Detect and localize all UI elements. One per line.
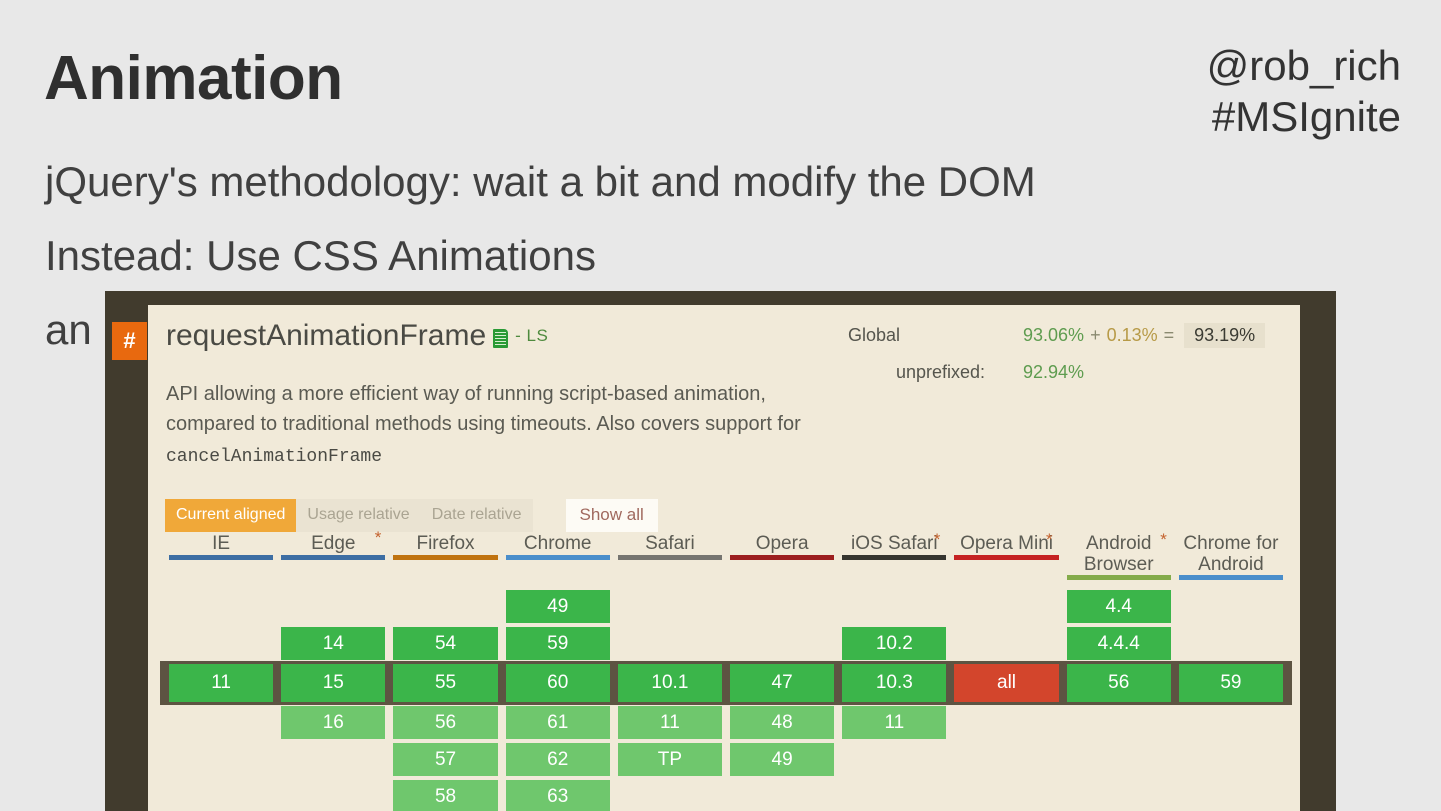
version-cell-older[interactable]: 54 <box>393 627 497 660</box>
browser-column-header-0[interactable]: IE <box>165 534 277 588</box>
spec-status-label: - LS <box>515 326 548 346</box>
version-cell-current[interactable]: 11 <box>169 664 273 702</box>
browser-name: Edge <box>277 534 389 555</box>
version-cell-empty <box>281 590 385 623</box>
feature-description: API allowing a more efficient way of run… <box>166 379 826 471</box>
version-cell-empty <box>954 780 1058 811</box>
spec-document-icon <box>493 329 508 348</box>
version-cell-empty <box>730 590 834 623</box>
version-cell-empty <box>169 590 273 623</box>
version-cell-empty <box>1179 743 1283 776</box>
version-cell-older[interactable]: 4.4 <box>1067 590 1171 623</box>
browser-column-header-6[interactable]: iOS Safari* <box>838 534 950 588</box>
version-cell-newer[interactable]: 57 <box>393 743 497 776</box>
filter-button-2[interactable]: Date relative <box>421 499 533 532</box>
version-cell-newer[interactable]: 62 <box>506 743 610 776</box>
unprefixed-label: unprefixed: <box>848 362 1023 383</box>
version-cell-newer[interactable]: 49 <box>730 743 834 776</box>
browser-name: Opera <box>726 534 838 555</box>
version-cell-empty <box>1067 743 1171 776</box>
version-cell-empty <box>618 627 722 660</box>
version-column-6: 10.210.311 <box>838 590 950 811</box>
version-cell-newer[interactable]: 48 <box>730 706 834 739</box>
version-cell-empty <box>730 780 834 811</box>
version-cell-newer[interactable]: 61 <box>506 706 610 739</box>
version-cell-newer[interactable]: 56 <box>393 706 497 739</box>
version-cell-empty <box>618 780 722 811</box>
version-cell-empty <box>169 780 273 811</box>
presenter-handle-block: @rob_rich #MSIgnite <box>1207 40 1401 142</box>
browser-color-bar <box>730 555 834 560</box>
browser-column-header-8[interactable]: Android Browser* <box>1063 534 1175 588</box>
version-cell-empty <box>1067 706 1171 739</box>
version-cell-older[interactable]: 10.2 <box>842 627 946 660</box>
version-cell-empty <box>1179 706 1283 739</box>
feature-name: requestAnimationFrame <box>166 319 486 353</box>
version-cell-empty <box>281 743 385 776</box>
version-cell-empty <box>730 627 834 660</box>
browser-color-bar <box>1179 575 1283 580</box>
slide-bullet-2: Instead: Use CSS Animations <box>45 232 596 280</box>
slide-bullet-3: an <box>45 306 92 354</box>
plus-sign: + <box>1090 325 1101 346</box>
browser-color-bar <box>169 555 273 560</box>
version-cell-empty <box>954 743 1058 776</box>
version-cell-newer[interactable]: 11 <box>842 706 946 739</box>
equals-sign: = <box>1164 325 1175 346</box>
filter-button-group: Current alignedUsage relativeDate relati… <box>165 499 658 532</box>
version-cell-current[interactable]: 55 <box>393 664 497 702</box>
filter-button-0[interactable]: Current aligned <box>165 499 296 532</box>
partial-support-asterisk-icon: * <box>934 530 941 550</box>
version-cell-newer[interactable]: TP <box>618 743 722 776</box>
browser-column-header-4[interactable]: Safari <box>614 534 726 588</box>
version-column-9: 59 <box>1175 590 1287 811</box>
version-cell-empty <box>1179 780 1283 811</box>
filter-button-1[interactable]: Usage relative <box>296 499 420 532</box>
version-column-3: 495960616263 <box>502 590 614 811</box>
browser-header-row: IEEdge*FirefoxChromeSafariOperaiOS Safar… <box>165 534 1287 588</box>
global-partial-support-pct: 0.13% <box>1107 325 1158 346</box>
version-cell-older[interactable]: 49 <box>506 590 610 623</box>
version-cell-older[interactable]: 14 <box>281 627 385 660</box>
global-stat-row: Global 93.06% + 0.13% = 93.19% <box>848 323 1278 348</box>
browser-color-bar <box>506 555 610 560</box>
version-cell-current[interactable]: all <box>954 664 1058 702</box>
browser-color-bar <box>1067 575 1171 580</box>
version-grid: 11141516545556575849596061626310.111TP47… <box>165 590 1287 811</box>
version-cell-empty <box>169 627 273 660</box>
version-cell-empty <box>618 590 722 623</box>
browser-column-header-7[interactable]: Opera Mini* <box>950 534 1062 588</box>
version-cell-newer[interactable]: 63 <box>506 780 610 811</box>
version-column-0: 11 <box>165 590 277 811</box>
partial-support-asterisk-icon: * <box>1046 530 1053 550</box>
version-cell-newer[interactable]: 11 <box>618 706 722 739</box>
version-cell-empty <box>281 780 385 811</box>
version-cell-current[interactable]: 10.3 <box>842 664 946 702</box>
version-cell-current[interactable]: 56 <box>1067 664 1171 702</box>
global-full-support-pct: 93.06% <box>1023 325 1084 346</box>
version-cell-empty <box>1179 590 1283 623</box>
browser-column-header-9[interactable]: Chrome for Android <box>1175 534 1287 588</box>
partial-support-asterisk-icon: * <box>375 528 382 548</box>
browser-column-header-3[interactable]: Chrome <box>502 534 614 588</box>
unprefixed-stat-row: unprefixed: 92.94% <box>848 362 1278 383</box>
version-cell-older[interactable]: 4.4.4 <box>1067 627 1171 660</box>
event-hashtag: #MSIgnite <box>1207 91 1401 142</box>
browser-column-header-5[interactable]: Opera <box>726 534 838 588</box>
version-cell-empty <box>842 743 946 776</box>
version-cell-current[interactable]: 59 <box>1179 664 1283 702</box>
version-cell-empty <box>954 627 1058 660</box>
browser-color-bar <box>393 555 497 560</box>
browser-color-bar <box>618 555 722 560</box>
caniuse-panel: requestAnimationFrame - LS API allowing … <box>148 305 1300 811</box>
browser-name: Firefox <box>389 534 501 555</box>
browser-support-table: IEEdge*FirefoxChromeSafariOperaiOS Safar… <box>165 534 1287 811</box>
version-cell-current[interactable]: 47 <box>730 664 834 702</box>
browser-color-bar <box>281 555 385 560</box>
version-column-2: 5455565758 <box>389 590 501 811</box>
version-cell-empty <box>954 590 1058 623</box>
browser-color-bar <box>954 555 1058 560</box>
version-cell-empty <box>169 706 273 739</box>
version-column-8: 4.44.4.456 <box>1063 590 1175 811</box>
version-cell-empty <box>1067 780 1171 811</box>
version-cell-empty <box>169 743 273 776</box>
browser-name: Safari <box>614 534 726 555</box>
browser-name: Chrome <box>502 534 614 555</box>
version-cell-current[interactable]: 60 <box>506 664 610 702</box>
version-cell-current[interactable]: 15 <box>281 664 385 702</box>
version-column-5: 474849 <box>726 590 838 811</box>
version-cell-newer[interactable]: 58 <box>393 780 497 811</box>
browser-name: Chrome for Android <box>1175 534 1287 575</box>
unprefixed-pct: 92.94% <box>1023 362 1084 383</box>
browser-column-header-2[interactable]: Firefox <box>389 534 501 588</box>
global-total-pct: 93.19% <box>1184 323 1265 348</box>
slide-bullet-1: jQuery's methodology: wait a bit and mod… <box>45 158 1036 206</box>
partial-support-asterisk-icon: * <box>1160 530 1167 550</box>
page-title: Animation <box>44 48 343 110</box>
version-cell-older[interactable]: 59 <box>506 627 610 660</box>
browser-name: Android Browser <box>1063 534 1175 575</box>
version-cell-empty <box>842 780 946 811</box>
version-cell-empty <box>954 706 1058 739</box>
twitter-handle: @rob_rich <box>1207 40 1401 91</box>
version-cell-empty <box>1179 627 1283 660</box>
show-all-button[interactable]: Show all <box>566 499 658 532</box>
feature-description-code: cancelAnimationFrame <box>166 447 382 467</box>
global-label: Global <box>848 325 1023 346</box>
browser-name: IE <box>165 534 277 555</box>
version-column-7: all <box>950 590 1062 811</box>
version-column-4: 10.111TP <box>614 590 726 811</box>
feature-title-row: requestAnimationFrame - LS <box>166 319 548 353</box>
browser-color-bar <box>842 555 946 560</box>
browser-column-header-1[interactable]: Edge* <box>277 534 389 588</box>
global-usage-stats: Global 93.06% + 0.13% = 93.19% unprefixe… <box>848 323 1278 397</box>
feature-description-text: API allowing a more efficient way of run… <box>166 383 801 435</box>
version-cell-newer[interactable]: 16 <box>281 706 385 739</box>
version-cell-empty <box>842 590 946 623</box>
hash-badge-icon[interactable]: # <box>112 322 147 360</box>
version-cell-empty <box>393 590 497 623</box>
version-column-1: 141516 <box>277 590 389 811</box>
version-cell-current[interactable]: 10.1 <box>618 664 722 702</box>
